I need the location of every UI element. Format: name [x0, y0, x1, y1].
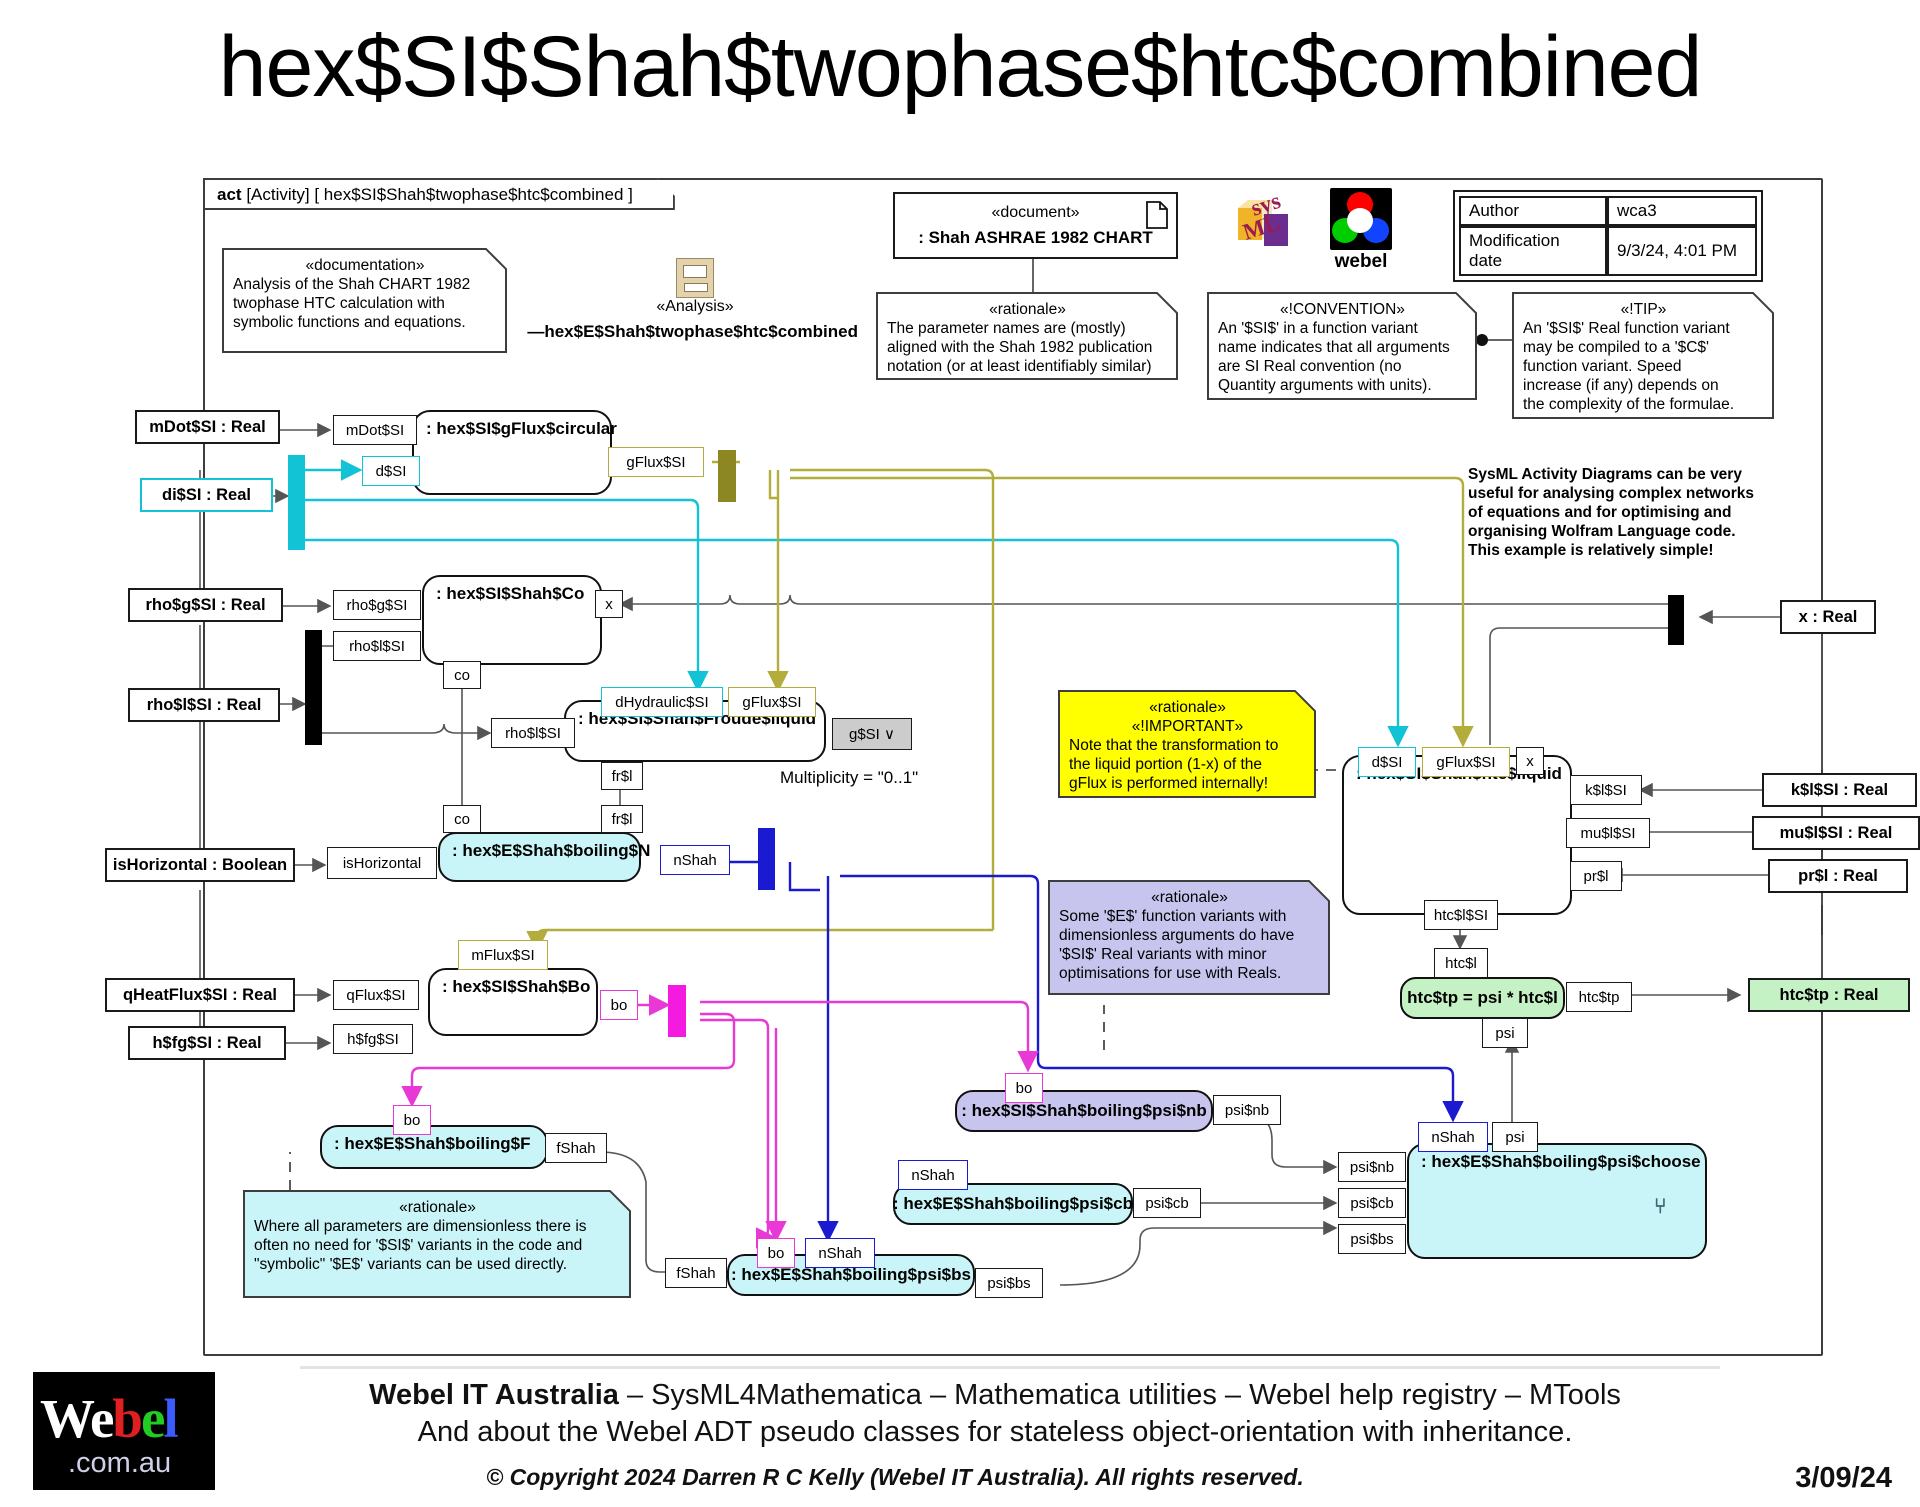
pin-ishorizontal[interactable]: isHorizontal: [327, 847, 437, 879]
pin-fshah-out[interactable]: fShah: [545, 1133, 607, 1163]
pin-x-co[interactable]: x: [595, 590, 623, 618]
pin-gflux-si-out[interactable]: gFlux$SI: [608, 447, 704, 477]
footer-brand: Webel IT Australia: [369, 1379, 619, 1411]
footer-copyright: © Copyright 2024 Darren R C Kelly (Webel…: [215, 1464, 1575, 1491]
action-label: : hex$E$Shah$boiling$N: [452, 841, 650, 860]
note-line: Where all parameters are dimensionless t…: [254, 1218, 587, 1235]
table-row: Author wca3: [1459, 196, 1757, 226]
blurb-line: organising Wolfram Language code.: [1468, 523, 1736, 540]
pin-rhol-si[interactable]: rho$l$SI: [333, 631, 421, 661]
note-rationale-es: «rationale» Some '$E$' function variants…: [1048, 880, 1330, 995]
pin-nshah-psibs[interactable]: nShah: [805, 1238, 875, 1268]
pin-rhog-si[interactable]: rho$g$SI: [333, 590, 421, 620]
action-label: : hex$E$Shah$boiling$F: [334, 1134, 531, 1153]
pin-x-htc[interactable]: x: [1516, 747, 1544, 775]
action-boiling-f[interactable]: : hex$E$Shah$boiling$F: [320, 1125, 548, 1169]
pin-nshah-choose[interactable]: nShah: [1418, 1122, 1488, 1152]
action-label: : hex$E$Shah$boiling$psi$cb: [893, 1194, 1133, 1214]
pin-hfg-si[interactable]: h$fg$SI: [333, 1024, 413, 1054]
note-line: may be compiled to a '$C$': [1523, 339, 1709, 356]
pin-gflux-si-in[interactable]: gFlux$SI: [728, 687, 816, 717]
sysml-logo: sys ML: [1232, 190, 1300, 252]
pin-prl[interactable]: pr$l: [1570, 861, 1622, 891]
note-line: aligned with the Shah 1982 publication: [887, 339, 1152, 356]
action-label: : hex$E$Shah$boiling$psi$choose: [1421, 1152, 1701, 1171]
fork-bar-olive: [718, 450, 736, 502]
pin-rhol-si-froude[interactable]: rho$l$SI: [491, 718, 575, 748]
document-stereotype: «document»: [991, 204, 1079, 222]
pin-psinb-out[interactable]: psi$nb: [1213, 1095, 1281, 1125]
document-node: «document» : Shah ASHRAE 1982 CHART: [893, 192, 1178, 259]
pin-g-si[interactable]: g$SI ∨: [832, 718, 912, 750]
note-line: '$SI$' Real variants with minor: [1059, 946, 1267, 963]
note-line: the liquid portion (1-x) of the: [1069, 756, 1262, 773]
pin-d-si-htc[interactable]: d$SI: [1358, 747, 1416, 777]
note-stereotype: «documentation»: [233, 256, 497, 275]
footer-date: 3/09/24: [1795, 1462, 1892, 1495]
pin-psi[interactable]: psi: [1482, 1018, 1528, 1048]
note-stereotype: «rationale»: [887, 300, 1168, 319]
pin-qflux-si[interactable]: qFlux$SI: [333, 980, 419, 1010]
pin-fshah-in[interactable]: fShah: [665, 1258, 727, 1288]
note-stereotype2: «!IMPORTANT»: [1069, 717, 1306, 736]
note-line: The parameter names are (mostly): [887, 320, 1126, 337]
analysis-stereotype: «Analysis»: [640, 298, 750, 316]
pin-kl-si[interactable]: k$l$SI: [1570, 775, 1642, 805]
footer-logo: Webel .com.au: [33, 1372, 215, 1490]
action-label: htc$tp = psi * htc$l: [1407, 988, 1558, 1008]
pin-htcl-si[interactable]: htc$l$SI: [1424, 900, 1498, 930]
note-line: Note that the transformation to: [1069, 737, 1278, 754]
param-ishorizontal[interactable]: isHorizontal : Boolean: [105, 848, 295, 882]
blurb-line: SysML Activity Diagrams can be very: [1468, 466, 1742, 483]
join-bar-black-right: [1668, 595, 1684, 645]
note-convention: «!CONVENTION» An '$SI$' in a function va…: [1207, 292, 1477, 400]
action-psi-nb[interactable]: : hex$SI$Shah$boiling$psi$nb: [955, 1090, 1213, 1132]
pin-bo-psibs[interactable]: bo: [757, 1238, 795, 1268]
footer-line-2: And about the Webel ADT pseudo classes f…: [215, 1416, 1775, 1449]
pin-psicb-out[interactable]: psi$cb: [1133, 1188, 1201, 1218]
pin-mdot-si[interactable]: mDot$SI: [333, 415, 417, 445]
action-psi-choose[interactable]: : hex$E$Shah$boiling$psi$choose ⑂: [1407, 1143, 1707, 1259]
note-line: An '$SI$' Real function variant: [1523, 320, 1730, 337]
footer-line-1: Webel IT Australia – SysML4Mathematica –…: [215, 1379, 1775, 1412]
note-line: function variant. Speed: [1523, 358, 1682, 375]
webel-logo: webel: [1330, 188, 1392, 273]
param-rhog[interactable]: rho$g$SI : Real: [128, 588, 283, 622]
footer-logo-domain: .com.au: [68, 1447, 171, 1480]
param-htctp[interactable]: htc$tp : Real: [1748, 978, 1910, 1012]
param-klsi[interactable]: k$l$SI : Real: [1762, 773, 1917, 807]
pin-bo-psinb[interactable]: bo: [1005, 1073, 1043, 1103]
action-htc-liquid[interactable]: : hex$SI$Shah$htc$liquid: [1342, 755, 1572, 915]
action-label: : hex$SI$Shah$Bo: [442, 977, 590, 996]
param-hfg[interactable]: h$fg$SI : Real: [128, 1026, 286, 1060]
pin-d-si[interactable]: d$SI: [362, 456, 420, 486]
param-di[interactable]: di$SI : Real: [140, 478, 273, 512]
sysml-blurb: SysML Activity Diagrams can be very usef…: [1468, 465, 1778, 560]
note-line: Quantity arguments with units).: [1218, 377, 1432, 394]
tool-icon: ⑂: [1654, 1195, 1667, 1219]
action-label: : hex$E$Shah$boiling$psi$bs: [731, 1265, 971, 1285]
screenshot-root: hex$SI$Shah$twophase$htc$combined act [A…: [0, 0, 1920, 1507]
pin-psi-choose[interactable]: psi: [1492, 1122, 1538, 1152]
note-line: dimensionless arguments do have: [1059, 927, 1294, 944]
note-stereotype: «rationale»: [1059, 888, 1320, 907]
note-line: are SI Real convention (no: [1218, 358, 1402, 375]
pin-nshah-out[interactable]: nShah: [660, 845, 730, 875]
blurb-line: This example is relatively simple!: [1468, 542, 1714, 559]
note-tip: «!TIP» An '$SI$' Real function variant m…: [1512, 292, 1774, 419]
pin-dhydraulic-si[interactable]: dHydraulic$SI: [601, 687, 723, 717]
fork-bar-cyan: [288, 455, 305, 550]
note-line: An '$SI$' in a function variant: [1218, 320, 1418, 337]
pin-psinb-in[interactable]: psi$nb: [1338, 1152, 1406, 1182]
action-label: : hex$SI$Shah$Co: [436, 584, 584, 603]
action-gflux-circular[interactable]: : hex$SI$gFlux$circular: [412, 410, 612, 495]
page-title: hex$SI$Shah$twophase$htc$combined: [0, 18, 1920, 117]
table-row: Modification date 9/3/24, 4:01 PM: [1459, 226, 1757, 276]
meta-label: Author: [1459, 196, 1607, 226]
action-htctp-equation[interactable]: htc$tp = psi * htc$l: [1400, 977, 1565, 1019]
analysis-label: —hex$E$Shah$twophase$htc$combined: [278, 322, 858, 342]
pin-frl-out[interactable]: fr$l: [601, 762, 643, 790]
frame-name: [ hex$SI$Shah$twophase$htc$combined ]: [314, 185, 633, 204]
meta-value: 9/3/24, 4:01 PM: [1607, 226, 1757, 276]
action-label: : hex$SI$gFlux$circular: [426, 419, 617, 438]
note-important: «rationale» «!IMPORTANT» Note that the t…: [1058, 690, 1316, 798]
pin-bo-out[interactable]: bo: [600, 990, 638, 1020]
multiplicity-label: Multiplicity = "0..1": [780, 768, 918, 788]
pin-psibs-in[interactable]: psi$bs: [1338, 1224, 1406, 1254]
fork-bar-magenta: [668, 985, 686, 1037]
note-stereotype: «!TIP»: [1523, 300, 1764, 319]
meta-label: Modification date: [1459, 226, 1607, 276]
note-stereotype: «rationale»: [254, 1198, 621, 1217]
note-line: often no need for '$SI$' variants in the…: [254, 1237, 582, 1254]
note-stereotype: «!CONVENTION»: [1218, 300, 1467, 319]
param-x[interactable]: x : Real: [1780, 600, 1876, 634]
document-icon: [1145, 200, 1169, 230]
blurb-line: useful for analysing complex networks: [1468, 485, 1754, 502]
note-line: optimisations for use with Reals.: [1059, 965, 1281, 982]
document-name: : Shah ASHRAE 1982 CHART: [918, 228, 1153, 248]
webel-caption: webel: [1330, 251, 1392, 273]
note-rationale-params: «rationale» The parameter names are (mos…: [876, 292, 1178, 380]
param-qheatflux[interactable]: qHeatFlux$SI : Real: [105, 978, 295, 1012]
note-line: the complexity of the formulae.: [1523, 396, 1734, 413]
blurb-line: of equations and for optimising and: [1468, 504, 1732, 521]
action-label: : hex$SI$Shah$boiling$psi$nb: [961, 1101, 1207, 1121]
note-line: "symbolic" '$E$' variants can be used di…: [254, 1256, 567, 1273]
pin-htctp[interactable]: htc$tp: [1566, 982, 1632, 1012]
param-prl[interactable]: pr$l : Real: [1768, 859, 1908, 893]
diagram-frame-header: act [Activity] [ hex$SI$Shah$twophase$ht…: [203, 178, 675, 210]
pin-co-out[interactable]: co: [443, 661, 481, 689]
pin-psibs-out[interactable]: psi$bs: [975, 1268, 1043, 1298]
param-rhol[interactable]: rho$l$SI : Real: [128, 688, 280, 722]
footer-logo-word: Webel: [40, 1387, 177, 1450]
webel-logo-mark: [1330, 188, 1392, 250]
meta-value: wca3: [1607, 196, 1757, 226]
fork-bar-blue: [758, 828, 775, 890]
pin-bo-boilingf[interactable]: bo: [393, 1105, 431, 1135]
note-line: name indicates that all arguments: [1218, 339, 1450, 356]
pin-psicb-in[interactable]: psi$cb: [1338, 1188, 1406, 1218]
action-shah-co[interactable]: : hex$SI$Shah$Co: [422, 575, 602, 665]
pin-mul-si[interactable]: mu$l$SI: [1566, 818, 1650, 848]
analysis-icon: [676, 258, 714, 298]
note-rationale-dimensionless: «rationale» Where all parameters are dim…: [243, 1190, 631, 1298]
note-line: gFlux is performed internally!: [1069, 775, 1268, 792]
pin-mflux-si[interactable]: mFlux$SI: [458, 940, 548, 970]
note-line: increase (if any) depends on: [1523, 377, 1719, 394]
note-line: Some '$E$' function variants with: [1059, 908, 1286, 925]
note-line: notation (or at least identifiably simil…: [887, 358, 1151, 375]
meta-table: Author wca3 Modification date 9/3/24, 4:…: [1453, 190, 1763, 282]
pin-gflux-si-htc[interactable]: gFlux$SI: [1422, 747, 1510, 777]
action-shah-bo[interactable]: : hex$SI$Shah$Bo: [428, 968, 598, 1036]
footer-divider: [300, 1366, 1720, 1369]
pin-frl-in[interactable]: fr$l: [601, 805, 643, 833]
pin-co-in[interactable]: co: [443, 805, 481, 833]
fork-bar-black-left: [305, 630, 322, 745]
action-boiling-n[interactable]: : hex$E$Shah$boiling$N: [438, 832, 641, 882]
frame-type: [Activity]: [246, 185, 309, 204]
note-stereotype: «rationale»: [1069, 698, 1306, 717]
note-line: Analysis of the Shah CHART 1982: [233, 276, 470, 293]
pin-nshah-psicb[interactable]: nShah: [898, 1160, 968, 1190]
param-mulsi[interactable]: mu$l$SI : Real: [1752, 816, 1920, 850]
param-mdot[interactable]: mDot$SI : Real: [135, 410, 280, 444]
note-line: twophase HTC calculation with: [233, 295, 445, 312]
footer-links: – SysML4Mathematica – Mathematica utilit…: [619, 1379, 1621, 1411]
frame-kind: act: [217, 185, 242, 204]
pin-htcl[interactable]: htc$l: [1434, 948, 1488, 978]
